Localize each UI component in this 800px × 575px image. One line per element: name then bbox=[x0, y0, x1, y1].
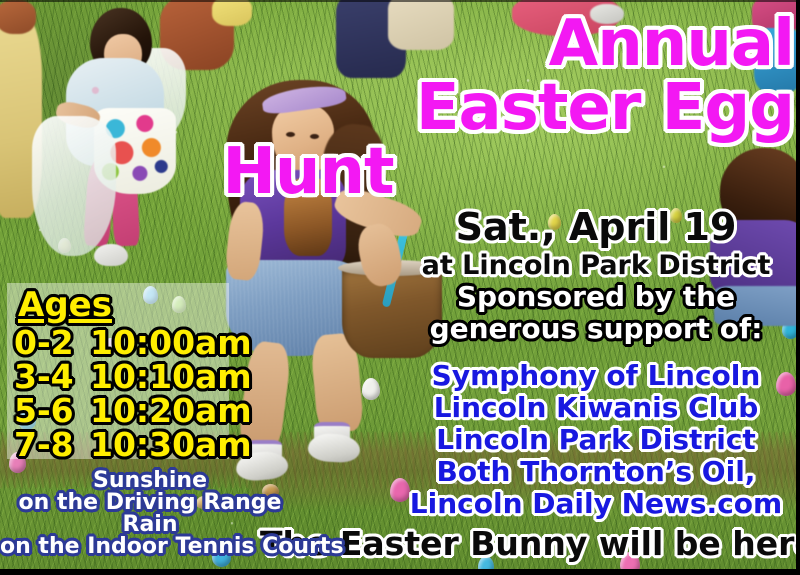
sponsor-name: Lincoln Park District bbox=[400, 426, 792, 454]
sponsor-name: Both Thornton’s Oil, bbox=[400, 458, 792, 486]
ages-row: 3-410:10am bbox=[14, 360, 252, 393]
ages-row: 7-810:30am bbox=[14, 428, 252, 461]
age-range: 7-8 bbox=[14, 428, 90, 461]
child-left-shoe bbox=[94, 244, 128, 266]
sponsor-name: Lincoln Daily News.com bbox=[400, 490, 792, 518]
ages-heading: Ages bbox=[18, 288, 112, 322]
sponsor-intro-line-1: Sponsored by the bbox=[400, 283, 792, 311]
ages-row: 0-210:00am bbox=[14, 326, 252, 359]
age-range: 3-4 bbox=[14, 360, 90, 393]
sponsor-name: Symphony of Lincoln bbox=[400, 362, 792, 390]
poster-title-line-1: Annual bbox=[0, 12, 794, 76]
ages-row: 5-610:20am bbox=[14, 394, 252, 427]
sponsor-name: Lincoln Kiwanis Club bbox=[400, 394, 792, 422]
age-range: 0-2 bbox=[14, 326, 90, 359]
weather-line: on the Indoor Tennis Courts bbox=[0, 536, 300, 558]
weather-line: Sunshine bbox=[0, 470, 300, 492]
poster-title-line-2: Easter Egg bbox=[0, 76, 794, 140]
easter-egg-hunt-poster: Annual Easter Egg Hunt Sat., April 19 at… bbox=[0, 0, 800, 575]
poster-border-right bbox=[796, 0, 800, 575]
main-girl-shoe-right bbox=[307, 433, 360, 464]
age-range: 5-6 bbox=[14, 394, 90, 427]
age-time: 10:30am bbox=[90, 425, 252, 464]
event-date: Sat., April 19 bbox=[400, 208, 792, 246]
event-location: at Lincoln Park District bbox=[400, 252, 792, 279]
sponsor-intro-line-2: generous support of: bbox=[400, 315, 792, 343]
weather-line: on the Driving Range bbox=[0, 492, 300, 514]
weather-line: Rain bbox=[0, 514, 300, 536]
poster-border-top bbox=[0, 0, 800, 2]
poster-border-bottom bbox=[0, 569, 800, 575]
poster-title-line-3: Hunt bbox=[0, 140, 794, 204]
